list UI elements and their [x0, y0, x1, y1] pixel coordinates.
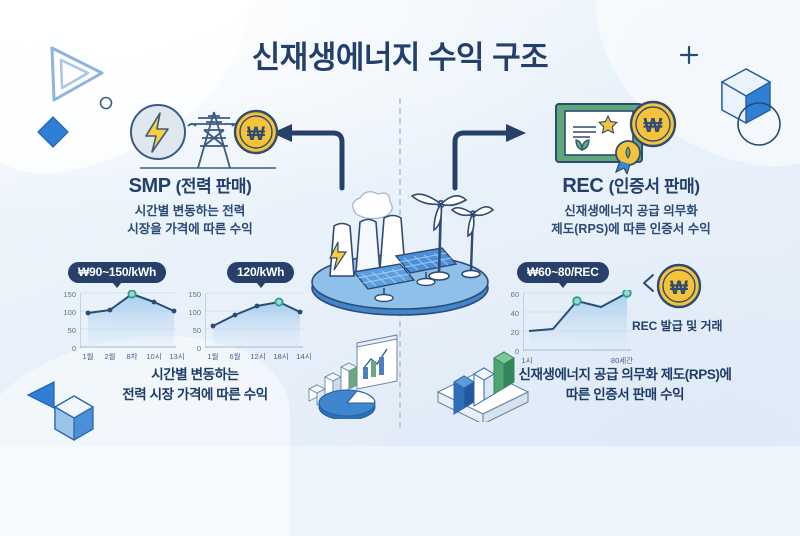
svg-text:₩: ₩	[644, 115, 663, 137]
rec-caption: 신재생에너지 공급 의무화 제도(RPS)에 따른 인증서 판매 수익	[455, 365, 795, 406]
ytick: 150	[56, 290, 76, 299]
xtick: 6월	[223, 351, 247, 362]
svg-text:₩: ₩	[247, 124, 265, 145]
arrow-head-right	[506, 124, 526, 142]
rec-chart-plot	[523, 290, 633, 354]
smp-chart-1-plot	[80, 290, 178, 350]
smp-chart-2-badge: 120/kWh	[227, 262, 294, 283]
smp-heading-block: SMP (전력 판매) 시간별 변동하는 전력 시장을 가격에 따른 수익	[60, 172, 320, 239]
rec-chart-badge: ₩60~80/REC	[517, 262, 609, 283]
svg-text:₩: ₩	[670, 278, 688, 299]
rec-heading-block: REC (인증서 판매) 신재생에너지 공급 의무화 제도(RPS)에 따른 인…	[486, 172, 776, 239]
rec-title: REC (인증서 판매)	[486, 172, 776, 198]
won-coin-icon: ₩	[631, 102, 675, 146]
rec-description: 신재생에너지 공급 의무화 제도(RPS)에 따른 인증서 수익	[486, 203, 776, 239]
steam-cloud	[353, 192, 392, 219]
smp-chart-1: ₩90~150/kWh 150 100 50 0 1월 2월 8차 10시	[60, 262, 180, 357]
ytick: 20	[499, 328, 519, 337]
ytick: 100	[56, 308, 76, 317]
ytick: 50	[181, 326, 201, 335]
smp-description: 시간별 변동하는 전력 시장을 가격에 따른 수익	[60, 203, 320, 239]
smp-title: SMP (전력 판매)	[60, 172, 320, 198]
smp-icon-group: ₩	[126, 100, 286, 172]
renewable-energy-platform	[300, 180, 500, 320]
smp-chart-2: 120/kWh 150 100 50 0 1월 6월 12시 18시 1	[185, 262, 310, 357]
ytick: 150	[181, 290, 201, 299]
xtick: 1월	[76, 351, 100, 362]
rec-chart: ₩60~80/REC 60 40 20 0 1시 80세간	[505, 262, 640, 357]
ytick: 0	[56, 344, 76, 353]
smp-chart-1-badge: ₩90~150/kWh	[68, 262, 166, 283]
rec-icon-group: ₩	[552, 96, 682, 174]
ytick: 100	[181, 308, 201, 317]
infographic-root: 신재생에너지 수익 구조	[0, 0, 800, 446]
transmission-tower-icon	[188, 112, 240, 168]
ribbon-seal-icon	[616, 141, 640, 174]
ytick: 40	[499, 309, 519, 318]
rec-trade-label: REC 발급 및 거래	[632, 317, 723, 334]
ytick: 60	[499, 290, 519, 299]
xtick: 14시	[291, 351, 317, 362]
won-coin-icon: ₩	[655, 262, 703, 310]
ytick: 50	[56, 326, 76, 335]
smp-caption: 시간별 변동하는 전력 시장 가격에 따른 수익	[55, 365, 335, 406]
smp-chart-2-plot	[205, 290, 305, 350]
ytick: 0	[181, 344, 201, 353]
xtick: 2월	[98, 351, 122, 362]
won-coin-icon: ₩	[235, 111, 277, 153]
xtick: 1월	[201, 351, 225, 362]
plus-sign-deco	[678, 44, 700, 66]
